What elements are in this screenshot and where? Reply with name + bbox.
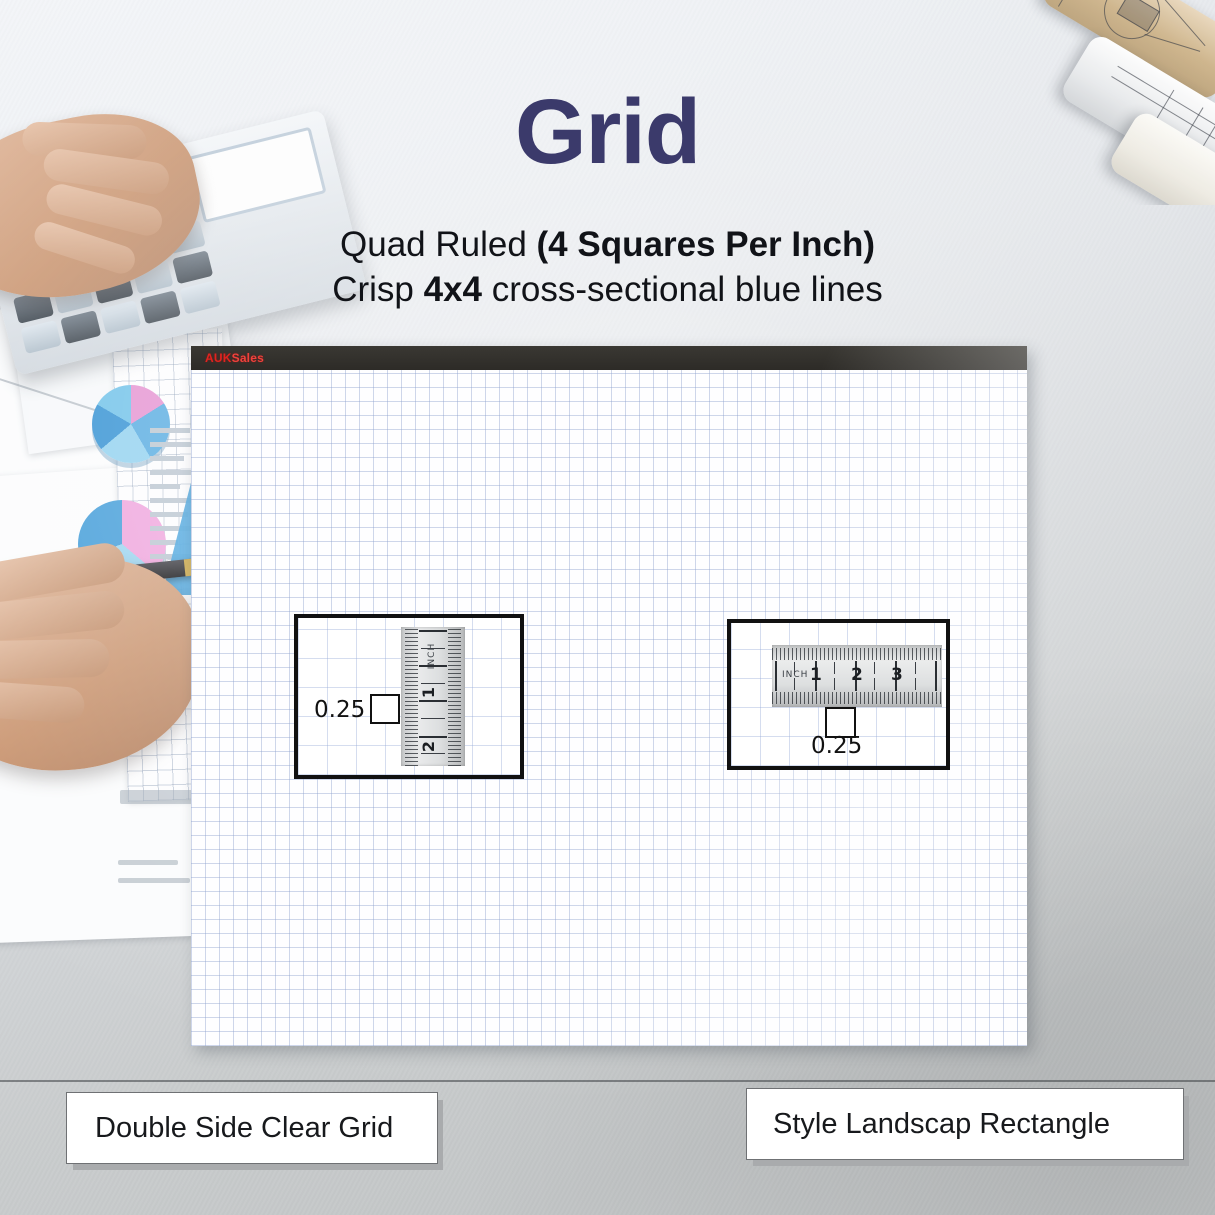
ruler-mark-1: 1 [419,687,438,698]
ruler-mark-2: 2 [419,741,438,752]
subtitle-line-1: Quad Ruled (4 Squares Per Inch) [0,225,1215,264]
ruler-unit-label: INCH [427,643,437,669]
dimension-label-left: 0.25 [314,697,365,723]
infographic-canvas: Grid Quad Ruled (4 Squares Per Inch) Cri… [0,0,1215,1215]
ruler-tick-edge-left [405,627,418,766]
notepad-header-bar: AUKSales [191,346,1027,370]
brand-logo: AUKSales [205,351,264,365]
subtitle-1-bold: (4 Squares Per Inch) [537,225,875,264]
caption-plate-left: Double Side Clear Grid [66,1092,438,1164]
callout-horizontal-ruler: INCH 1 2 3 0.25 [727,619,950,770]
ruler-unit-label: INCH [782,670,808,680]
brand-text-sales: Sales [232,351,264,365]
subtitle-2-plain-b: cross-sectional blue lines [482,270,883,309]
ruler-tick-edge-right [448,627,461,766]
caption-plate-right: Style Landscap Rectangle [746,1088,1184,1160]
subtitle-1-plain: Quad Ruled [340,225,537,264]
ruler-mark-1: 1 [810,665,822,685]
subtitle-line-2: Crisp 4x4 cross-sectional blue lines [0,270,1215,309]
ruler-mark-3: 3 [891,665,903,685]
callout-vertical-ruler: INCH 1 2 0.25 [294,614,524,779]
grid-square-sample-left [370,694,400,724]
caption-left-text: Double Side Clear Grid [95,1112,393,1145]
subtitle-2-bold: 4x4 [424,270,482,309]
page-title: Grid [0,86,1215,178]
dimension-label-right: 0.25 [811,733,862,759]
ruler-mark-2: 2 [851,665,863,685]
bottom-divider-line [0,1080,1215,1082]
brand-text-auk: AUK [205,351,232,365]
ruler-horizontal: INCH 1 2 3 [772,645,942,707]
ruler-tick-edge-bottom [772,692,942,704]
ruler-tick-edge-top [772,648,942,660]
ruler-vertical: INCH 1 2 [401,627,465,766]
caption-right-text: Style Landscap Rectangle [773,1108,1110,1141]
subtitle-2-plain-a: Crisp [332,270,423,309]
